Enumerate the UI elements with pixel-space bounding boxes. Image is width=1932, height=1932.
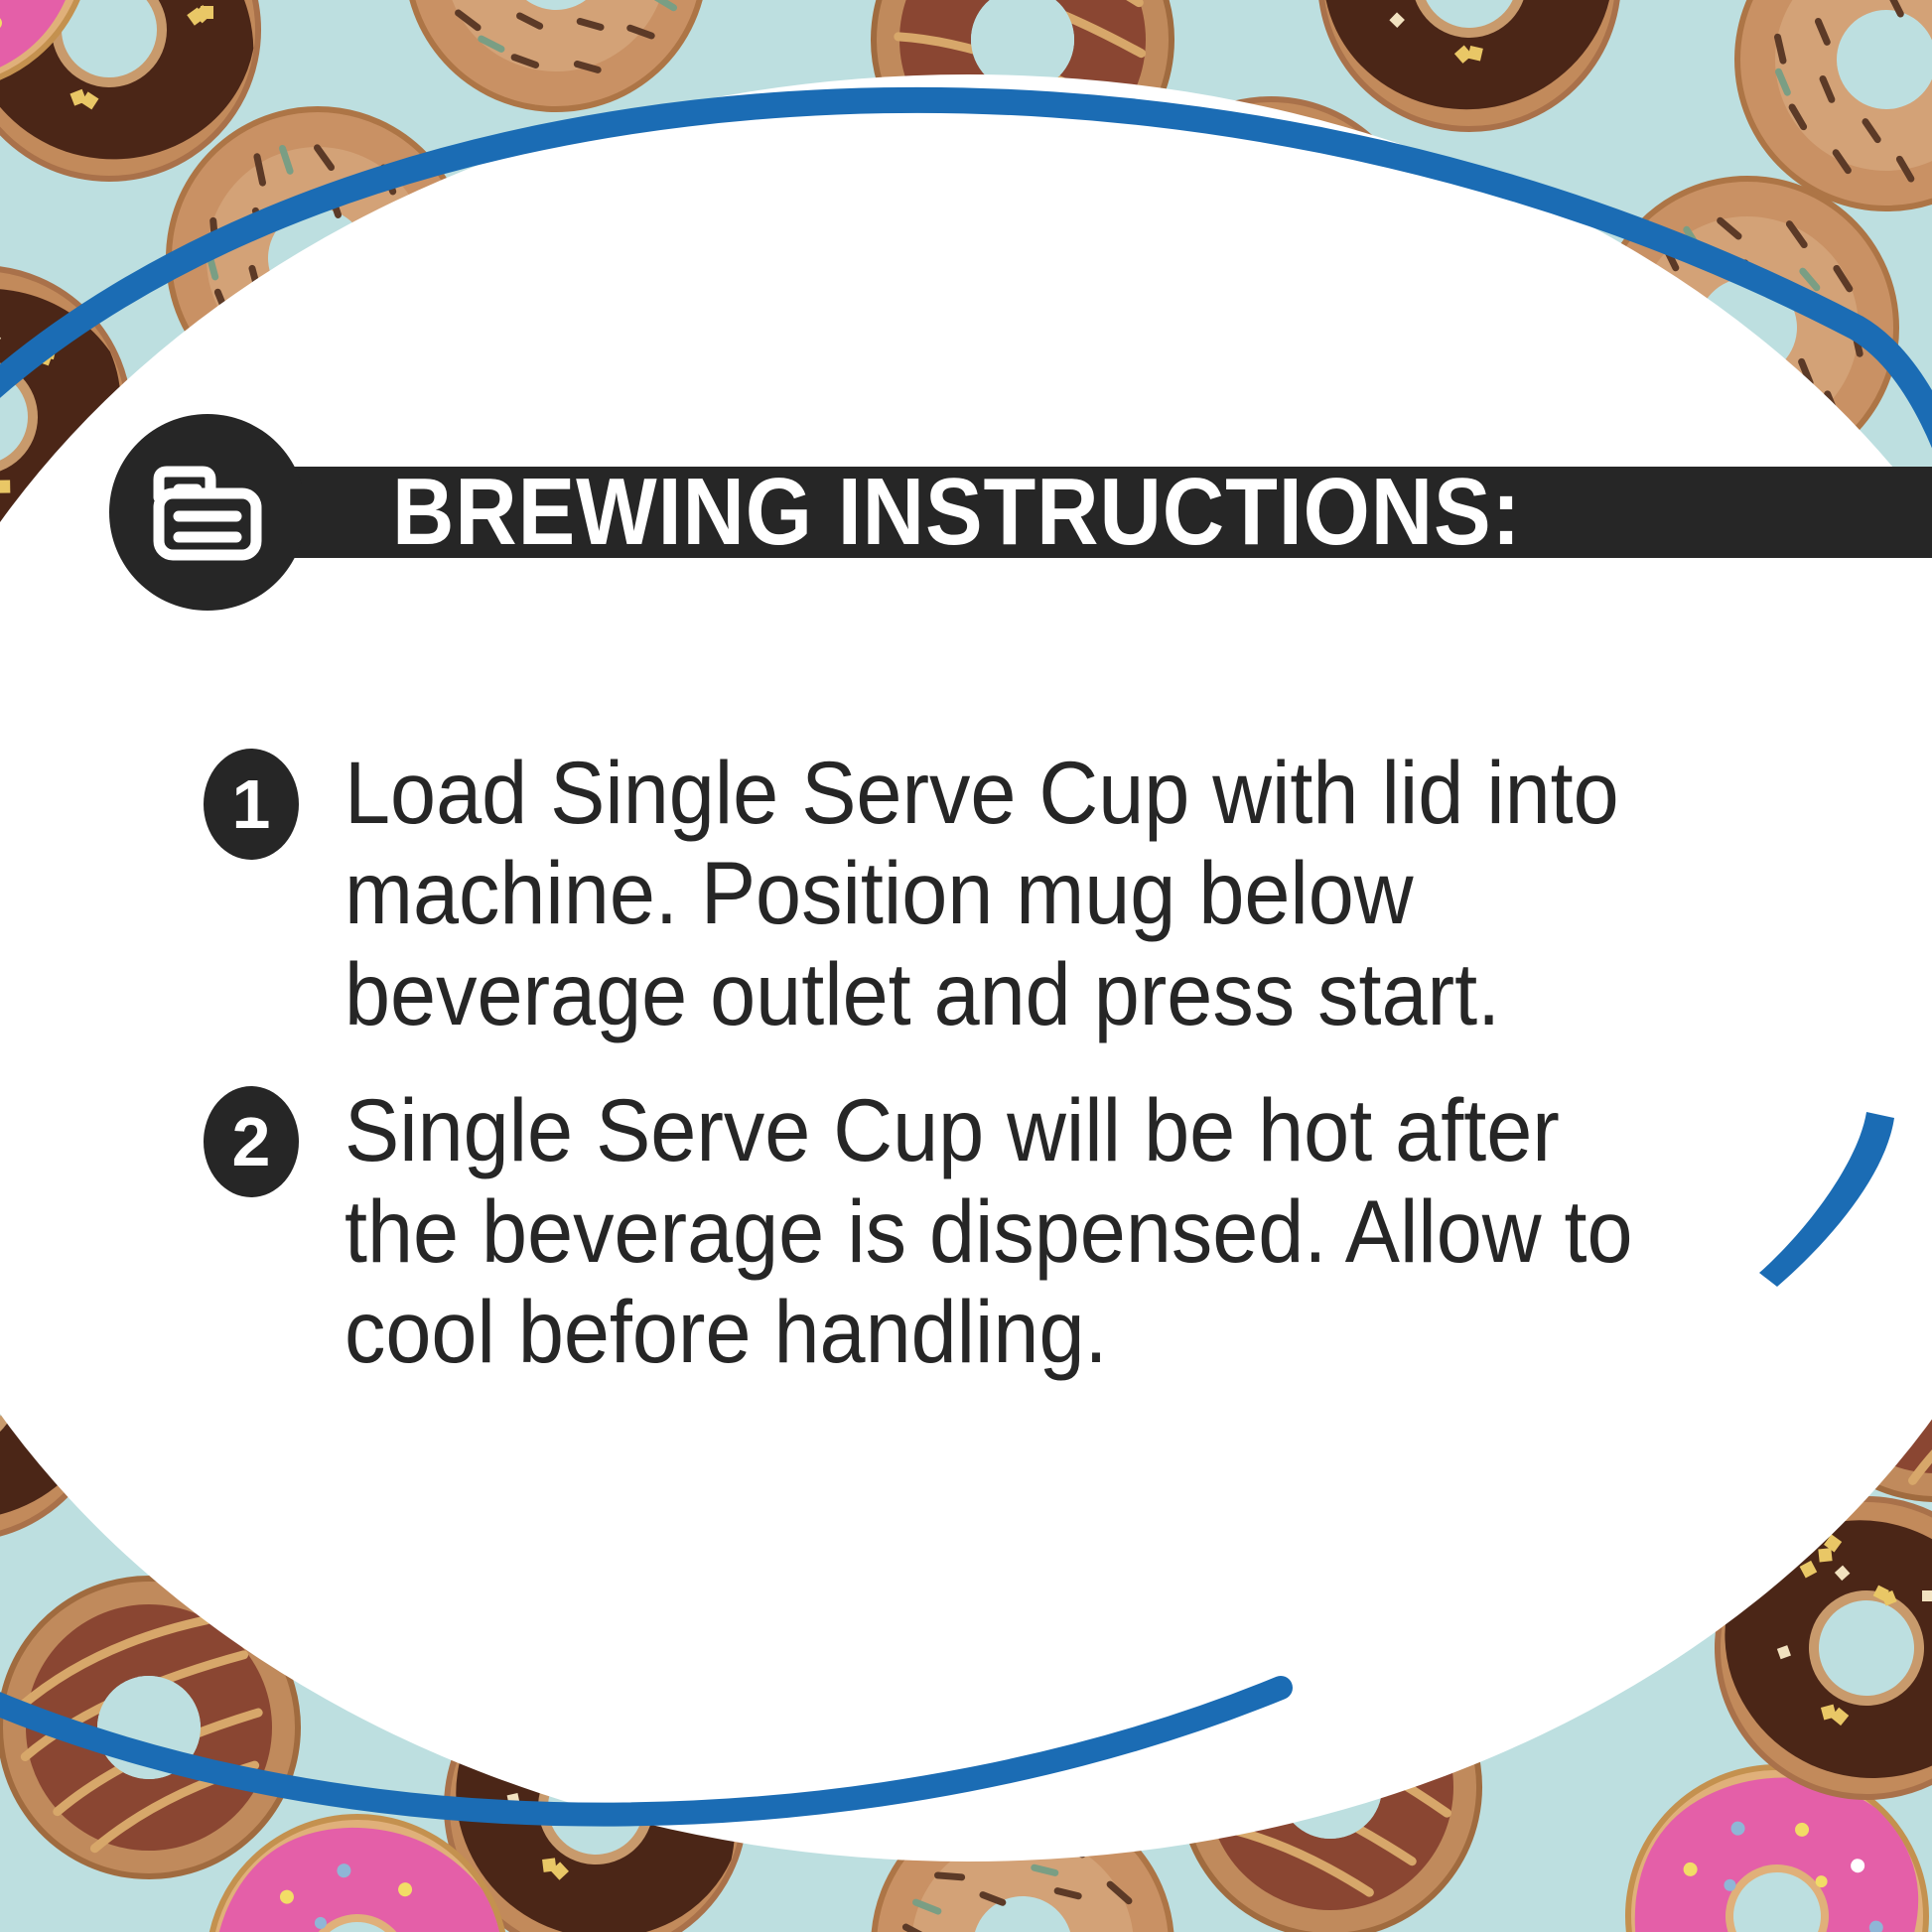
page-title: BREWING INSTRUCTIONS: xyxy=(392,467,1521,558)
step-text: Single Serve Cup will be hot after the b… xyxy=(345,1080,1654,1382)
step-text: Load Single Serve Cup with lid into mach… xyxy=(345,743,1654,1044)
list-item: 1 Load Single Serve Cup with lid into ma… xyxy=(204,743,1752,1044)
brewing-instructions-panel: BREWING INSTRUCTIONS: 1 Load Single Serv… xyxy=(0,0,1932,1932)
step-number-badge: 2 xyxy=(204,1086,299,1197)
step-number-badge: 1 xyxy=(204,749,299,860)
brewing-steps-list: 1 Load Single Serve Cup with lid into ma… xyxy=(204,743,1752,1419)
list-item: 2 Single Serve Cup will be hot after the… xyxy=(204,1080,1752,1382)
header-banner: BREWING INSTRUCTIONS: xyxy=(109,467,1844,558)
document-lines-icon xyxy=(109,414,306,611)
